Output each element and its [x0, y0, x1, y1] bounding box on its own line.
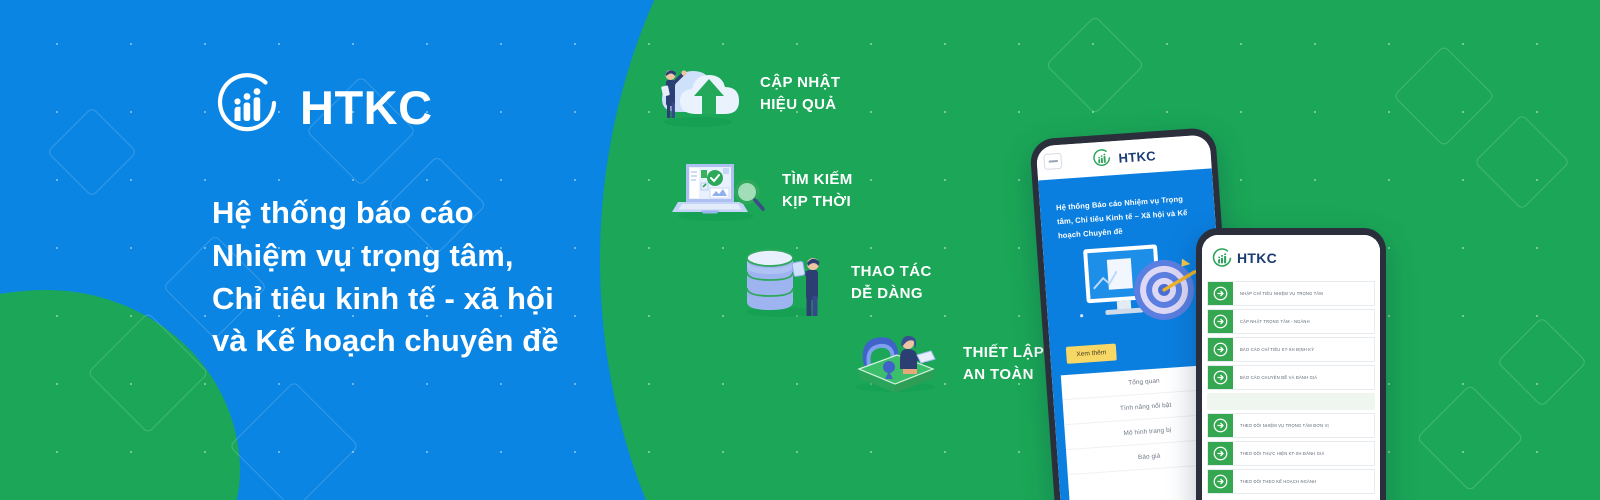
phone2-action-list: NHẬP CHỈ TIÊU NHIỆM VỤ TRỌNG TÂM CẬP NHẬ…: [1202, 281, 1380, 500]
arrow-right-circle-icon: [1208, 414, 1233, 437]
list-item[interactable]: CẬP NHẬT TRỌNG TÂM - NGÀNH: [1207, 309, 1375, 334]
brand-lockup: HTKC: [212, 72, 642, 142]
page-title: Hệ thống báo cáo Nhiệm vụ trọng tâm, Chỉ…: [212, 192, 642, 363]
arrow-right-circle-icon: [1208, 282, 1233, 305]
padlock-icon: [845, 325, 949, 402]
feature-thao-tac: THAO TÁC DỄ DÀNG: [737, 240, 932, 325]
feature-thiet-lap: THIẾT LẬP AN TOÀN: [845, 325, 1044, 402]
laptop-search-icon: [668, 150, 768, 231]
feature-label: CẬP NHẬT HIỆU QUẢ: [760, 72, 840, 116]
feature-label-line-1: THIẾT LẬP: [963, 344, 1044, 361]
feature-label-line-2: KỊP THỜI: [782, 193, 851, 210]
hero-banner: HTKC Hệ thống báo cáo Nhiệm vụ trọng tâm…: [0, 0, 1600, 500]
headline-line-4: và Kế hoạch chuyên đề: [212, 320, 642, 363]
phone1-logo-text: HTKC: [1118, 148, 1156, 166]
phone1-cta-button[interactable]: Xem thêm: [1066, 344, 1117, 364]
phone2-screen: HTKC NHẬP CHỈ TIÊU NHIỆM VỤ TRỌNG TÂM CẬ…: [1202, 235, 1380, 500]
feature-label-line-2: DỄ DÀNG: [851, 285, 923, 302]
list-item-label: BÁO CÁO CHỈ TIÊU KT-XH ĐỊNH KỲ: [1233, 338, 1374, 361]
list-item[interactable]: THEO DÕI THỰC HIỆN KT-XH ĐÁNH GIÁ: [1207, 441, 1375, 466]
list-item-label: CẬP NHẬT TRỌNG TÂM - NGÀNH: [1233, 310, 1374, 333]
htkc-circle-chart-logo-icon: [1091, 148, 1112, 169]
list-item[interactable]: BÁO CÁO CHỈ TIÊU KT-XH ĐỊNH KỲ: [1207, 337, 1375, 362]
list-item[interactable]: THEO DÕI THEO KẾ HOẠCH NGÀNH: [1207, 469, 1375, 494]
feature-label: THIẾT LẬP AN TOÀN: [963, 342, 1044, 386]
feature-label-line-2: AN TOÀN: [963, 366, 1034, 383]
arrow-right-circle-icon: [1208, 338, 1233, 361]
database-icon: [737, 240, 837, 325]
feature-label-line-1: TÌM KIẾM: [782, 171, 853, 188]
feature-label-line-1: CẬP NHẬT: [760, 74, 840, 91]
htkc-circle-chart-logo-icon: [212, 72, 282, 142]
cloud-upload-icon: [650, 52, 746, 135]
hamburger-menu-icon[interactable]: [1043, 153, 1062, 170]
list-item-label: THEO DÕI NHIỆM VỤ TRỌNG TÂM ĐƠN VỊ: [1233, 414, 1374, 437]
arrow-right-circle-icon: [1208, 442, 1233, 465]
feature-label: THAO TÁC DỄ DÀNG: [851, 261, 932, 305]
arrow-right-circle-icon: [1208, 366, 1233, 389]
feature-label: TÌM KIẾM KỊP THỜI: [782, 169, 853, 213]
headline-line-1: Hệ thống báo cáo: [212, 192, 642, 235]
feature-label-line-1: THAO TÁC: [851, 263, 932, 280]
list-item-label: NHẬP CHỈ TIÊU NHIỆM VỤ TRỌNG TÂM: [1233, 282, 1374, 305]
brand-name: HTKC: [300, 84, 433, 131]
list-item[interactable]: NHẬP CHỈ TIÊU NHIỆM VỤ TRỌNG TÂM: [1207, 281, 1375, 306]
list-item-label: THEO DÕI THEO KẾ HOẠCH NGÀNH: [1233, 470, 1374, 493]
list-section-divider: [1207, 393, 1375, 410]
headline-line-2: Nhiệm vụ trọng tâm,: [212, 235, 642, 278]
list-item-label: THEO DÕI THỰC HIỆN KT-XH ĐÁNH GIÁ: [1233, 442, 1374, 465]
phone2-logo-text: HTKC: [1237, 250, 1277, 266]
list-item[interactable]: THEO DÕI NHIỆM VỤ TRỌNG TÂM ĐƠN VỊ: [1207, 413, 1375, 438]
arrow-right-circle-icon: [1208, 310, 1233, 333]
person-figure: [792, 258, 820, 316]
arrow-right-circle-icon: [1208, 470, 1233, 493]
feature-tim-kiem: TÌM KIẾM KỊP THỜI: [668, 150, 853, 231]
feature-cap-nhat: CẬP NHẬT HIỆU QUẢ: [650, 52, 840, 135]
headline-line-3: Chỉ tiêu kinh tế - xã hội: [212, 278, 642, 321]
phone2-app-header: HTKC: [1202, 235, 1380, 281]
list-item-label: BÁO CÁO CHUYÊN ĐỀ VÀ ĐÁNH GIÁ: [1233, 366, 1374, 389]
phone1-title: Hệ thống Báo cáo Nhiệm vụ Trọng tâm, Chỉ…: [1038, 168, 1216, 244]
htkc-circle-chart-logo-icon: [1211, 248, 1231, 268]
hero-left-column: HTKC Hệ thống báo cáo Nhiệm vụ trọng tâm…: [212, 72, 642, 363]
phone-mockup-secondary: HTKC NHẬP CHỈ TIÊU NHIỆM VỤ TRỌNG TÂM CẬ…: [1196, 228, 1386, 500]
feature-label-line-2: HIỆU QUẢ: [760, 96, 837, 113]
list-item[interactable]: BÁO CÁO CHUYÊN ĐỀ VÀ ĐÁNH GIÁ: [1207, 365, 1375, 390]
